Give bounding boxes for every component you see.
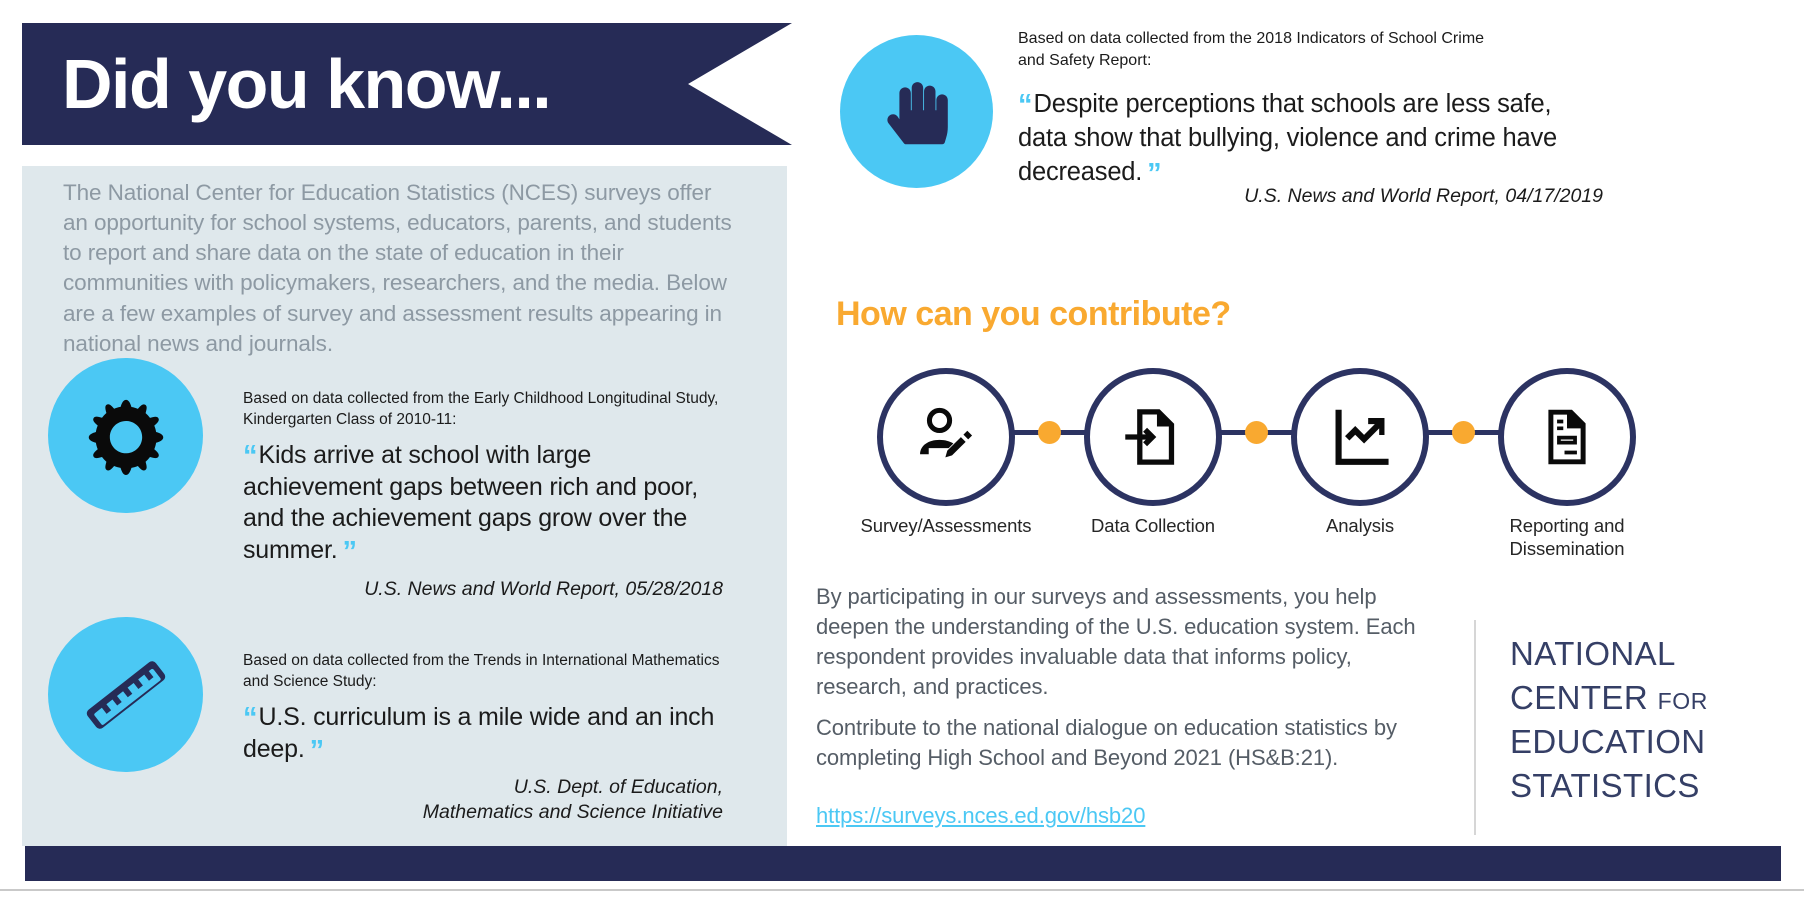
contribute-heading: How can you contribute?	[836, 295, 1231, 334]
step-label: Analysis	[1274, 514, 1446, 537]
chart-trend-icon	[1326, 403, 1394, 471]
logo-line-statistics: STATISTICS	[1510, 764, 1708, 808]
step-circle	[1498, 368, 1636, 506]
step-circle	[1291, 368, 1429, 506]
logo-divider	[1474, 620, 1476, 835]
close-quote-icon: ”	[342, 536, 356, 568]
quote-block-timss: Based on data collected from the Trends …	[243, 650, 723, 824]
file-import-icon	[1120, 404, 1186, 470]
quote-block-early-childhood: Based on data collected from the Early C…	[243, 388, 723, 601]
did-you-know-banner: Did you know...	[22, 23, 792, 145]
quote-source: Based on data collected from the Early C…	[243, 388, 723, 431]
top-quote-text: Despite perceptions that schools are les…	[1018, 90, 1557, 186]
quote-text: Kids arrive at school with large achieve…	[243, 441, 698, 564]
logo-word-for: FOR	[1658, 688, 1708, 714]
contribute-paragraph-2: Contribute to the national dialogue on e…	[816, 713, 1436, 773]
gear-icon	[83, 393, 169, 479]
ruler-icon-circle	[48, 617, 203, 772]
step-circle	[1084, 368, 1222, 506]
logo-line-center-for: CENTER FOR	[1510, 676, 1708, 720]
hand-icon-circle	[840, 35, 993, 188]
open-quote-icon: “	[1018, 89, 1032, 121]
ruler-icon	[78, 647, 174, 743]
open-quote-icon: “	[243, 702, 257, 734]
step-label: Data Collection	[1067, 514, 1239, 537]
process-flow: Survey/Assessments Data Collection	[860, 368, 1660, 538]
flow-step-survey-assessments[interactable]: Survey/Assessments	[860, 368, 1032, 537]
hsb-survey-link[interactable]: https://surveys.nces.ed.gov/hsb20	[816, 803, 1145, 829]
quote-text-wrap: “Kids arrive at school with large achiev…	[243, 440, 723, 567]
step-circle	[877, 368, 1015, 506]
infographic-page: Did you know... The National Center for …	[0, 0, 1804, 898]
flow-dot-1	[1038, 421, 1061, 444]
quote-attribution-line-2: Mathematics and Science Initiative	[243, 800, 723, 825]
quote-text-wrap: “U.S. curriculum is a mile wide and an i…	[243, 702, 723, 766]
quote-attribution: U.S. News and World Report, 05/28/2018	[243, 577, 723, 602]
logo-line-national: NATIONAL	[1510, 632, 1708, 676]
flow-dot-2	[1245, 421, 1268, 444]
logo-line-education: EDUCATION	[1510, 720, 1708, 764]
contribute-paragraph-1: By participating in our surveys and asse…	[816, 582, 1436, 702]
step-label: Reporting and Dissemination	[1481, 514, 1653, 560]
hand-icon	[873, 68, 961, 156]
top-quote-attribution: U.S. News and World Report, 04/17/2019	[1018, 185, 1603, 208]
quote-source: Based on data collected from the Trends …	[243, 650, 723, 693]
step-label: Survey/Assessments	[860, 514, 1032, 537]
intro-paragraph: The National Center for Education Statis…	[63, 178, 733, 359]
flow-step-reporting-dissemination[interactable]: Reporting and Dissemination	[1481, 368, 1653, 560]
flow-step-data-collection[interactable]: Data Collection	[1067, 368, 1239, 537]
close-quote-icon: ”	[310, 735, 324, 767]
footer-bar	[25, 846, 1781, 881]
person-pencil-icon	[910, 401, 982, 473]
logo-word-center: CENTER	[1510, 679, 1648, 716]
top-quote-text-wrap: “Despite perceptions that schools are le…	[1018, 88, 1588, 190]
nces-logo: NATIONAL CENTER FOR EDUCATION STATISTICS	[1510, 632, 1708, 808]
flow-dot-3	[1452, 421, 1475, 444]
banner-title: Did you know...	[22, 49, 550, 119]
top-quote-source: Based on data collected from the 2018 In…	[1018, 28, 1488, 73]
quote-attribution-line-1: U.S. Dept. of Education,	[243, 775, 723, 800]
footer-rule	[0, 889, 1804, 891]
flow-step-analysis[interactable]: Analysis	[1274, 368, 1446, 537]
quote-attribution: U.S. Dept. of Education, Mathematics and…	[243, 775, 723, 824]
open-quote-icon: “	[243, 440, 257, 472]
gear-icon-circle	[48, 358, 203, 513]
report-document-icon	[1536, 406, 1598, 468]
